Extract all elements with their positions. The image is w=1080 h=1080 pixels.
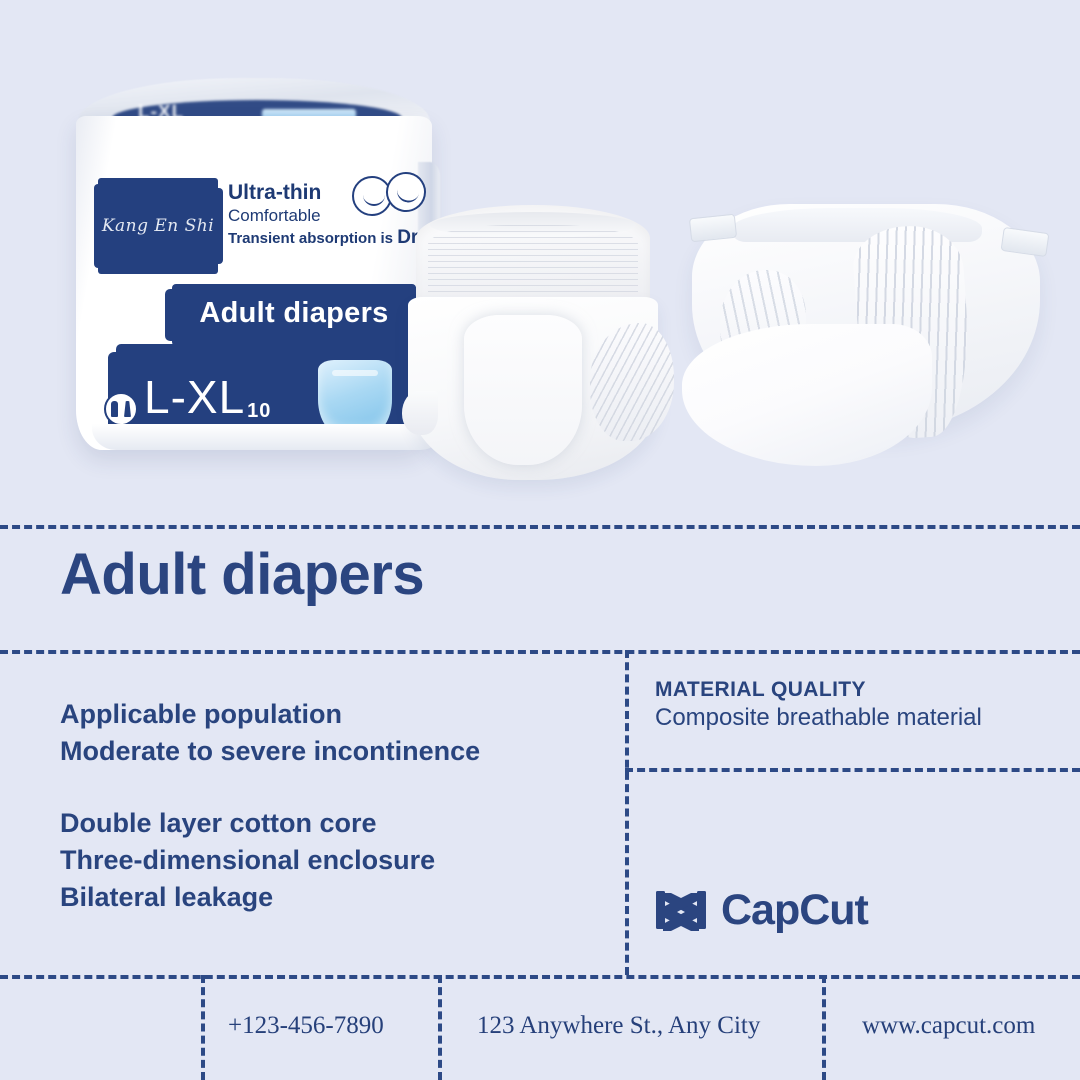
divider-footer-1 xyxy=(201,975,205,1080)
pull-up-adult-diaper xyxy=(408,205,666,480)
package-count-value: 10 xyxy=(247,400,271,422)
feature-enclosure: Three-dimensional enclosure xyxy=(60,842,605,879)
package-claim-dry: Transient absorption is Dry xyxy=(228,226,418,249)
taped-adult-diaper xyxy=(682,196,1050,468)
divider-footer-3 xyxy=(822,975,826,1080)
feature-incontinence-level: Moderate to severe incontinence xyxy=(60,733,605,770)
divider-footer-2 xyxy=(438,975,442,1080)
package-bottom-edge xyxy=(92,424,444,450)
package-product-name-badge: Adult diapers xyxy=(172,284,416,346)
package-size-value: L-XL xyxy=(144,371,245,423)
package-size-label: L-XL10 xyxy=(144,370,269,424)
pull-up-leg-cuff xyxy=(590,323,674,441)
footer-phone[interactable]: +123-456-7890 xyxy=(228,1012,384,1040)
hero-product-imagery: L-XL Kang En Shi Ultra-thin Comfortable … xyxy=(0,0,1080,525)
feature-group-construction: Double layer cotton core Three-dimension… xyxy=(60,805,605,915)
material-right-column: MATERIAL QUALITY Composite breathable ma… xyxy=(655,678,1055,732)
package-brand-badge: Kang En Shi xyxy=(98,178,218,274)
divider-footer-top xyxy=(0,975,1080,979)
divider-hero-bottom xyxy=(0,525,1080,529)
package-front-face: Kang En Shi Ultra-thin Comfortable Trans… xyxy=(76,116,432,450)
feature-group-population: Applicable population Moderate to severe… xyxy=(60,696,605,769)
footer-address: 123 Anywhere St., Any City xyxy=(477,1012,760,1040)
package-brand-script: Kang En Shi xyxy=(98,216,218,236)
material-quality-value: Composite breathable material xyxy=(655,704,1055,732)
capcut-wordmark: CapCut xyxy=(721,886,868,935)
capcut-logo: CapCut xyxy=(655,884,868,936)
capcut-bowtie-icon xyxy=(655,884,707,936)
feature-applicable-population: Applicable population xyxy=(60,696,605,733)
footer-website[interactable]: www.capcut.com xyxy=(862,1012,1035,1040)
taped-diaper-front-panel xyxy=(682,324,932,466)
divider-material-bottom xyxy=(625,768,1080,772)
page-title: Adult diapers xyxy=(60,545,424,606)
feature-bilateral-leakage: Bilateral leakage xyxy=(60,879,605,916)
features-left-column: Applicable population Moderate to severe… xyxy=(60,696,605,916)
pull-up-absorbent-core xyxy=(464,315,582,465)
feature-cotton-core: Double layer cotton core xyxy=(60,805,605,842)
pull-up-side-panel xyxy=(402,391,438,435)
claim-1-text: Ultra-thin xyxy=(228,181,321,204)
divider-headline-bottom xyxy=(0,650,1080,654)
divider-columns xyxy=(625,650,629,975)
product-package: L-XL Kang En Shi Ultra-thin Comfortable … xyxy=(62,78,442,450)
claim-3-prefix: Transient absorption is xyxy=(228,230,397,247)
poster-canvas: L-XL Kang En Shi Ultra-thin Comfortable … xyxy=(0,0,1080,1080)
material-quality-title: MATERIAL QUALITY xyxy=(655,678,1055,702)
taped-diaper-tab-left xyxy=(689,214,737,243)
man-woman-icon xyxy=(104,392,138,426)
package-product-name: Adult diapers xyxy=(172,297,416,330)
